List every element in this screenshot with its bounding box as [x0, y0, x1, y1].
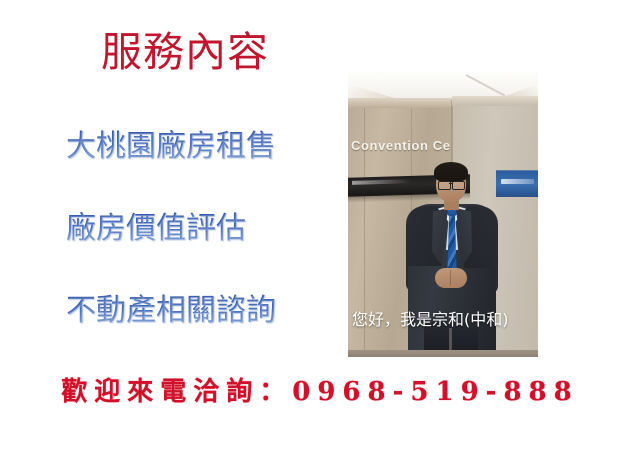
service-item-2: 廠房價值評估: [66, 212, 246, 245]
photo-beige-wall-trim: [452, 96, 538, 106]
service-item-3: 不動產相關諮詢: [66, 294, 276, 327]
service-item-1: 大桃園廠房租售: [66, 130, 276, 163]
page-title: 服務內容: [70, 30, 300, 74]
photo-person-hand-split: [450, 270, 451, 285]
glasses-bridge: [449, 183, 452, 184]
photo-person-hair: [434, 162, 468, 182]
photo-plaque-text: [501, 179, 534, 184]
photo-floor: [348, 350, 538, 357]
convention-center-sign: Convention Ce: [351, 138, 451, 153]
photo-wall-top-trim: [348, 98, 456, 108]
contact-phone-line: 歡迎來電洽詢：0968-519-888: [0, 371, 640, 408]
photo-caption: 您好，我是宗和(中和): [352, 306, 542, 330]
presentation-slide: 服務內容 大桃園廠房租售 廠房價值評估 不動產相關諮詢 Convention C…: [0, 0, 640, 451]
glasses-lens-right: [452, 181, 465, 190]
